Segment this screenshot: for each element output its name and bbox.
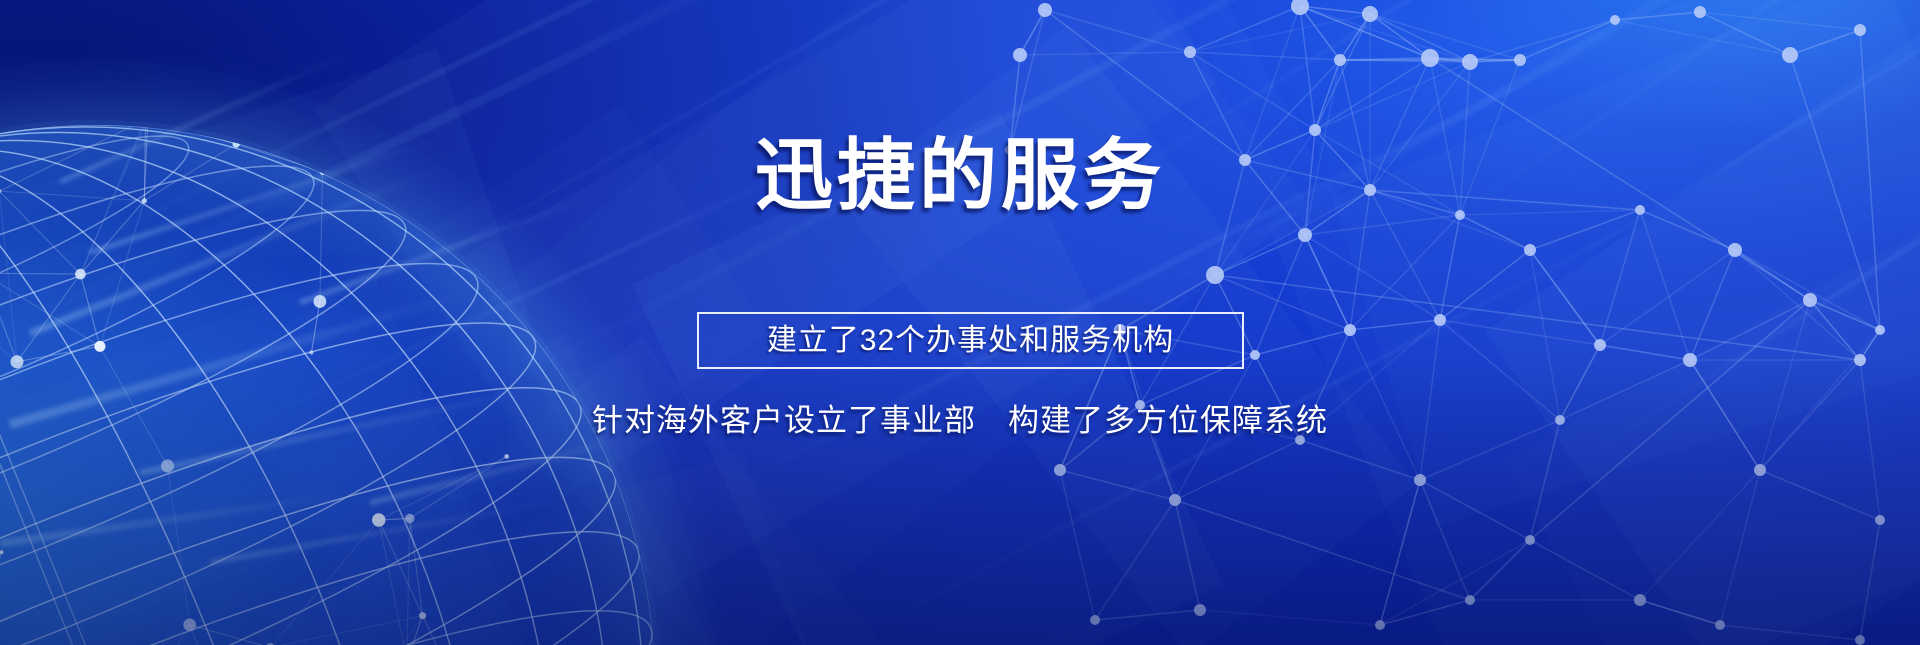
- subtitle-box-text: 建立了32个办事处和服务机构: [767, 326, 1174, 356]
- banner-tagline: 针对海外客户设立了事业部 构建了多方位保障系统: [0, 402, 1920, 439]
- banner-title: 迅捷的服务: [0, 136, 1920, 214]
- banner-content: 迅捷的服务 建立了32个办事处和服务机构 针对海外客户设立了事业部 构建了多方位…: [0, 0, 1920, 645]
- subtitle-box: 建立了32个办事处和服务机构: [697, 312, 1244, 369]
- service-hero-banner: 迅捷的服务 建立了32个办事处和服务机构 针对海外客户设立了事业部 构建了多方位…: [0, 0, 1920, 645]
